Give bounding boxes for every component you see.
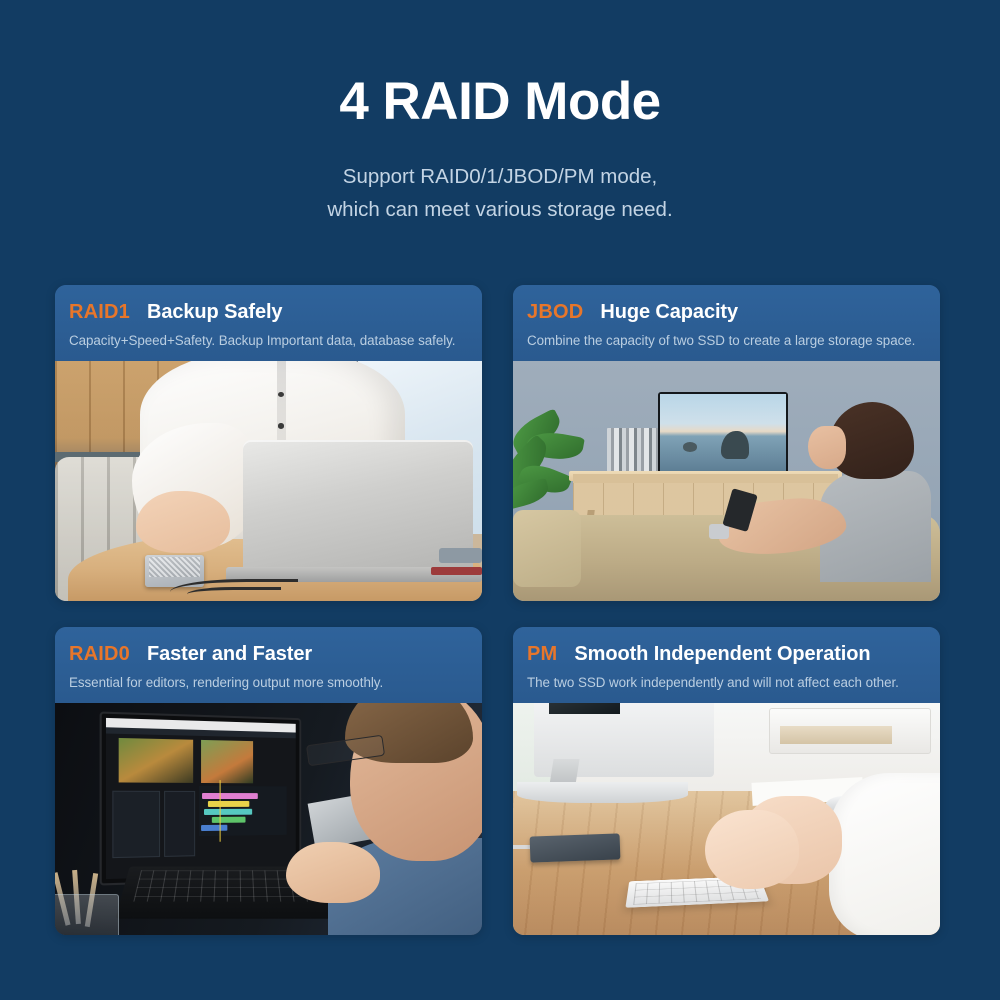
card-raid0-title-row: RAID0 Faster and Faster	[69, 643, 468, 666]
pen-holder	[55, 861, 119, 935]
card-jbod-heading: Huge Capacity	[600, 301, 738, 324]
source-preview-panel	[118, 737, 193, 782]
couch-cushion	[513, 510, 581, 587]
desktop-monitor	[658, 392, 788, 474]
timeline-clip	[208, 801, 249, 807]
imac-stand-base	[517, 782, 688, 803]
card-raid0-tag: RAID0	[69, 643, 130, 666]
raid-mode-card-grid: RAID1 Backup Safely Capacity+Speed+Safet…	[55, 285, 945, 935]
monitor-screen-seascape-wallpaper	[660, 394, 786, 472]
card-raid1-title-row: RAID1 Backup Safely	[69, 301, 468, 324]
card-raid0-heading: Faster and Faster	[147, 643, 312, 666]
desk-organizer-shelf	[769, 708, 931, 754]
screen-rock-formation	[721, 431, 749, 459]
timeline-clip	[204, 808, 252, 814]
card-pm-photo	[513, 703, 940, 935]
person-hand	[136, 491, 230, 553]
card-raid0-photo	[55, 703, 482, 935]
card-pm-description: The two SSD work independently and will …	[527, 675, 926, 690]
program-preview-panel	[201, 739, 253, 783]
card-raid1[interactable]: RAID1 Backup Safely Capacity+Speed+Safet…	[55, 285, 482, 601]
photo-laptop-user-white-shirt	[55, 361, 482, 601]
card-jbod-photo	[513, 361, 940, 601]
card-jbod-header: JBOD Huge Capacity Combine the capacity …	[513, 285, 940, 361]
editor-hand-on-keyboard	[286, 842, 380, 902]
product-feature-page: 4 RAID Mode Support RAID0/1/JBOD/PM mode…	[0, 0, 1000, 1000]
hero-section: 4 RAID Mode Support RAID0/1/JBOD/PM mode…	[0, 0, 1000, 226]
timeline-clip	[201, 824, 228, 830]
photo-video-editor-at-laptop	[55, 703, 482, 935]
usb-cable-2	[187, 587, 281, 601]
portable-ssd-enclosure	[530, 834, 620, 863]
card-pm-header: PM Smooth Independent Operation The two …	[513, 627, 940, 703]
effect-controls-panel	[164, 790, 195, 856]
timeline-playhead	[219, 780, 220, 842]
wristwatch	[709, 524, 728, 538]
project-bin-panel	[112, 790, 160, 858]
card-jbod-title-row: JBOD Huge Capacity	[527, 301, 926, 324]
red-notebook	[431, 567, 482, 574]
shelf-contents	[780, 726, 892, 744]
ssd-texture	[149, 557, 199, 577]
card-jbod-tag: JBOD	[527, 301, 583, 324]
card-raid0-header: RAID0 Faster and Faster Essential for ed…	[55, 627, 482, 703]
left-hand-typing	[705, 810, 799, 889]
card-raid1-heading: Backup Safely	[147, 301, 282, 324]
photo-hands-typing-with-ssd	[513, 703, 940, 935]
imac-screen	[549, 703, 621, 714]
editing-laptop	[100, 711, 302, 885]
card-pm[interactable]: PM Smooth Independent Operation The two …	[513, 627, 940, 935]
photo-man-watching-monitor-on-couch	[513, 361, 940, 601]
hero-subtitle-line-2: which can meet various storage need.	[0, 193, 1000, 226]
card-raid1-description: Capacity+Speed+Safety. Backup Important …	[69, 333, 468, 348]
hero-subtitle: Support RAID0/1/JBOD/PM mode, which can …	[0, 160, 1000, 226]
card-pm-title-row: PM Smooth Independent Operation	[527, 643, 926, 666]
phone-on-table	[439, 548, 482, 562]
hero-subtitle-line-1: Support RAID0/1/JBOD/PM mode,	[0, 160, 1000, 193]
card-raid0[interactable]: RAID0 Faster and Faster Essential for ed…	[55, 627, 482, 935]
timeline-clip	[202, 793, 257, 799]
man-face-profile	[808, 426, 846, 469]
glass-cup	[55, 894, 119, 935]
card-pm-heading: Smooth Independent Operation	[574, 643, 870, 666]
shirt-button-2	[278, 423, 284, 428]
card-pm-tag: PM	[527, 643, 557, 666]
card-raid1-header: RAID1 Backup Safely Capacity+Speed+Safet…	[55, 285, 482, 361]
screen-small-rock	[683, 442, 697, 451]
card-jbod[interactable]: JBOD Huge Capacity Combine the capacity …	[513, 285, 940, 601]
card-jbod-description: Combine the capacity of two SSD to creat…	[527, 333, 926, 348]
card-raid0-description: Essential for editors, rendering output …	[69, 675, 468, 690]
timeline-clip	[211, 816, 245, 822]
white-shirt-sleeve	[829, 773, 940, 935]
laptop-screen-editing-software	[106, 718, 296, 879]
page-title: 4 RAID Mode	[0, 74, 1000, 130]
card-raid1-tag: RAID1	[69, 301, 130, 324]
timeline-panel	[199, 786, 287, 836]
card-raid1-photo	[55, 361, 482, 601]
